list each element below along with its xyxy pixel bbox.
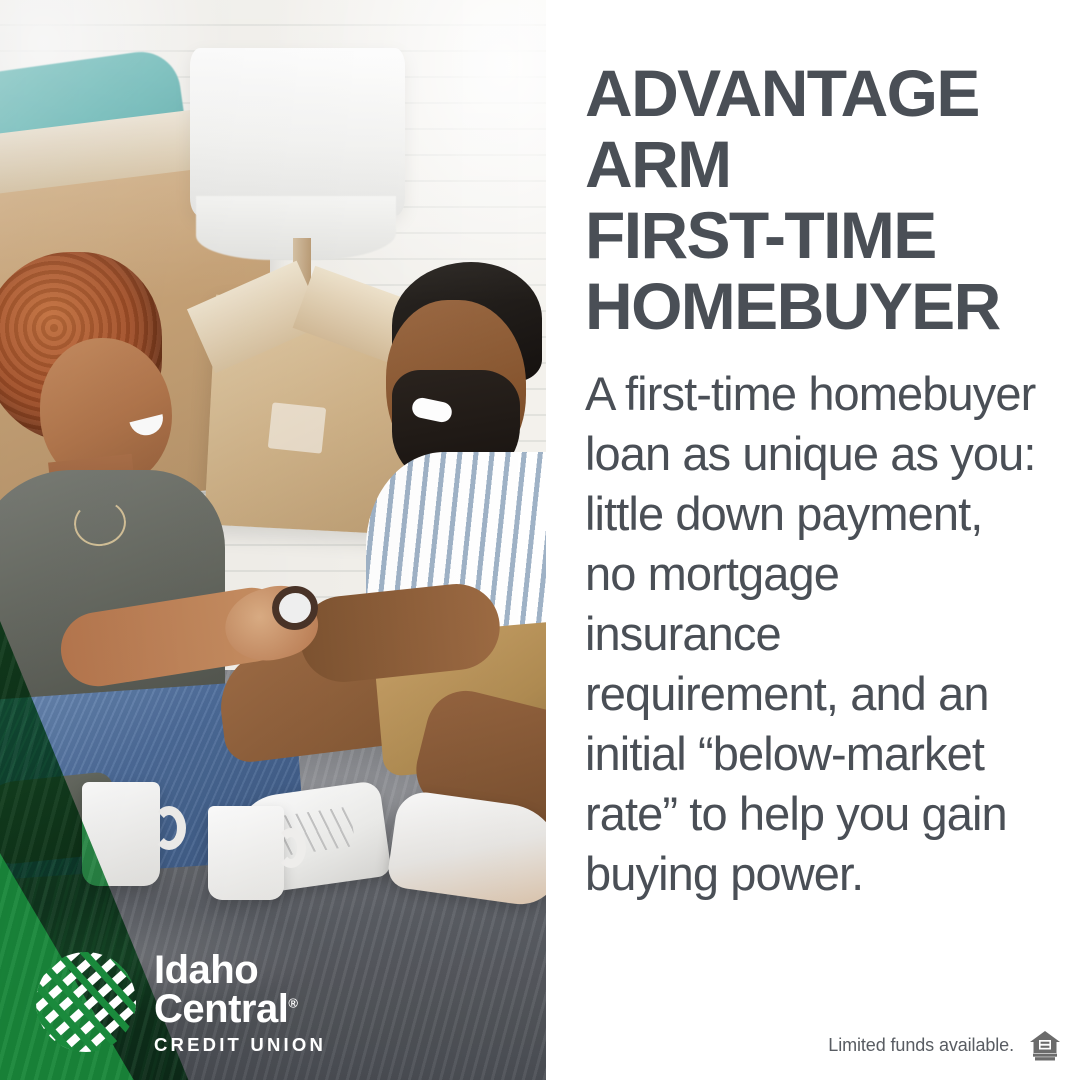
coffee-mug-left-handle <box>152 806 186 850</box>
brand-tagline: CREDIT UNION <box>154 1036 326 1055</box>
footer: Limited funds available. <box>828 1028 1062 1062</box>
coffee-mug-left <box>82 782 160 886</box>
coffee-mug-right <box>208 806 284 900</box>
idaho-central-slash-mark-icon <box>34 950 138 1054</box>
brand-name-central: Central <box>154 987 288 1031</box>
headline-line-2: ARM <box>585 129 1036 200</box>
coffee-mug-right-handle <box>276 828 306 868</box>
headline-line-1: ADVANTAGE <box>585 58 1036 129</box>
brand-logo: Idaho Central® CREDIT UNION <box>34 950 326 1055</box>
brand-name-line2: Central® <box>154 989 326 1029</box>
headline-line-4: HOMEBUYER <box>585 271 1036 342</box>
packing-tape <box>268 402 327 453</box>
wrapped-lamp-shade <box>190 48 405 216</box>
headline-line-3: FIRST-TIME <box>585 200 1036 271</box>
equal-housing-lender-icon <box>1028 1028 1062 1062</box>
disclaimer-text: Limited funds available. <box>828 1035 1014 1056</box>
promotional-card: Idaho Central® CREDIT UNION ADVANTAGE AR… <box>0 0 1080 1080</box>
brand-name-line1: Idaho <box>154 950 326 990</box>
registered-trademark-icon: ® <box>288 995 297 1010</box>
page-title: ADVANTAGE ARM FIRST-TIME HOMEBUYER <box>585 58 1036 342</box>
body-paragraph: A first-time homebuyer loan as unique as… <box>585 364 1036 904</box>
content-panel: ADVANTAGE ARM FIRST-TIME HOMEBUYER A fir… <box>546 0 1080 1080</box>
brand-wordmark: Idaho Central® CREDIT UNION <box>154 950 326 1055</box>
hero-photo <box>0 0 546 1080</box>
